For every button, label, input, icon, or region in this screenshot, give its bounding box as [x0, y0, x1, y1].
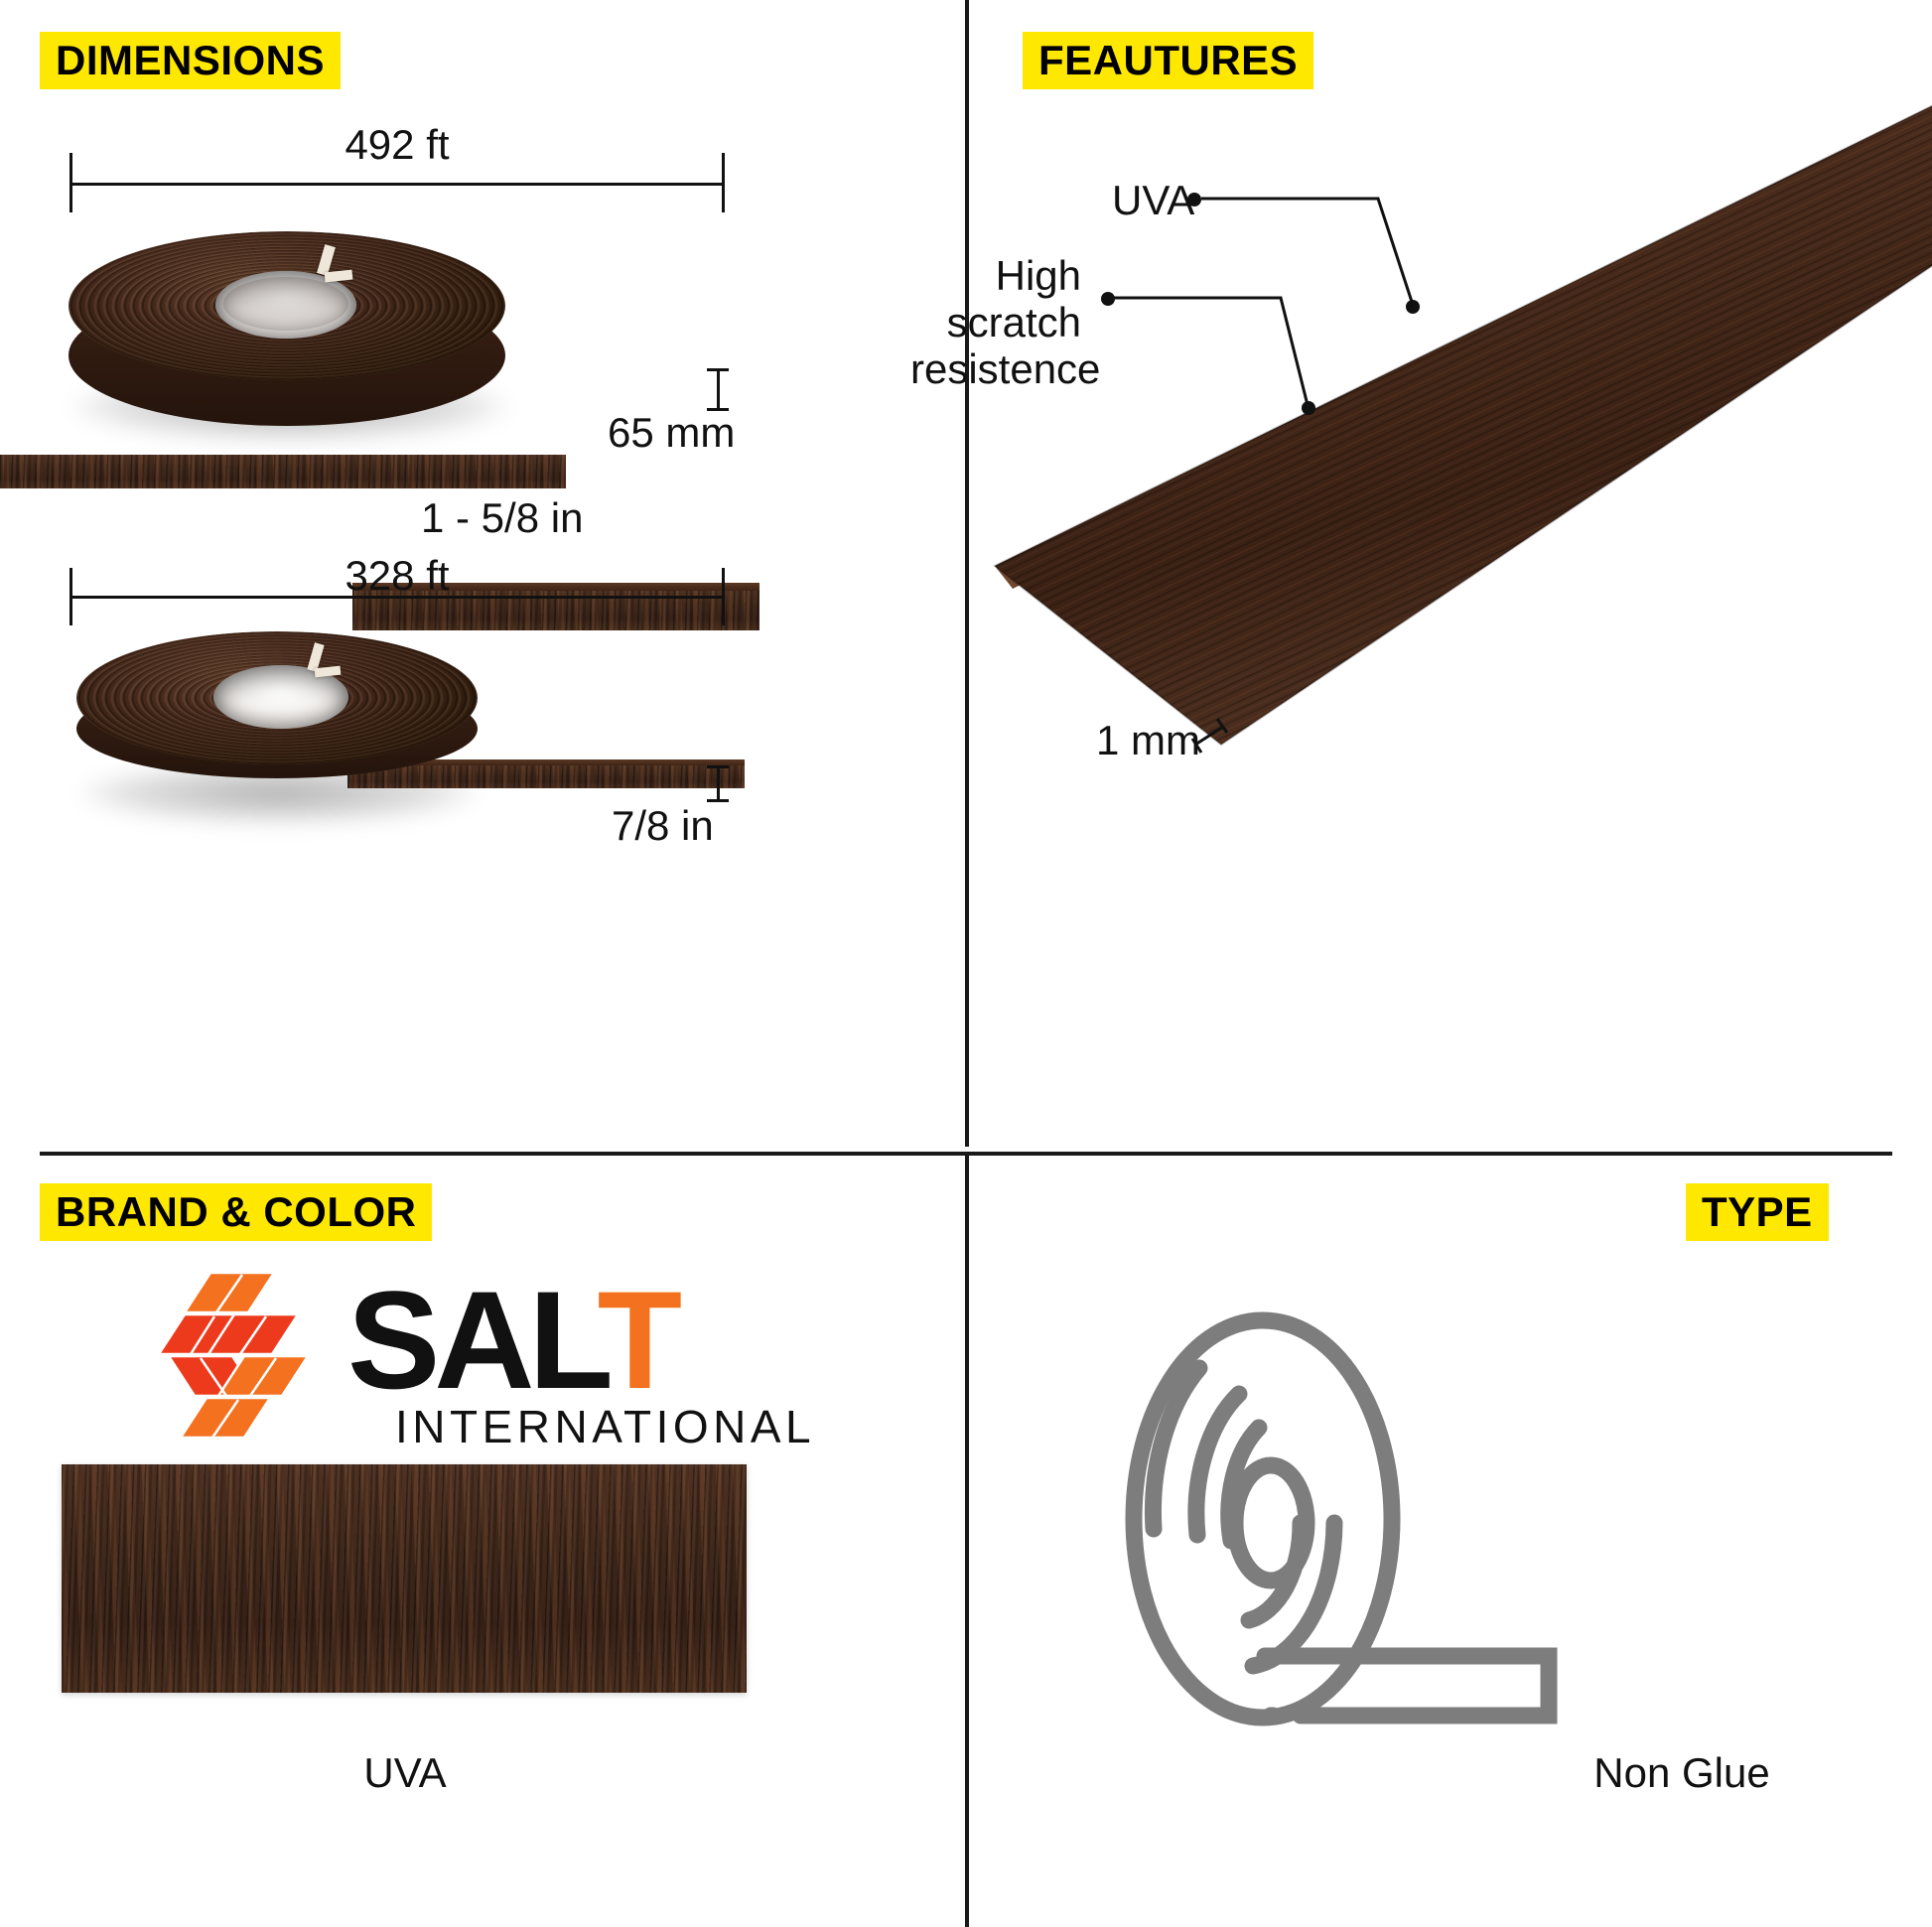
- callout-label-uva: UVA: [1112, 177, 1194, 223]
- dimtick-left-328ft: [69, 568, 72, 625]
- vertical-divider-bottom: [965, 1152, 969, 1927]
- dimtick-top-65mm: [707, 368, 729, 371]
- callout-anchor-scratch: [1302, 401, 1315, 415]
- label-color-name: UVA: [363, 1749, 446, 1796]
- label-length-328ft: 328 ft: [345, 552, 449, 599]
- dimtick-right-328ft: [722, 568, 725, 625]
- dimline-65mm: [717, 369, 720, 411]
- section-header-type: TYPE: [1686, 1183, 1829, 1241]
- salt-s-mark-icon: [149, 1269, 338, 1445]
- infographic-sheet: DIMENSIONS 492 ft 65 mm 1 - 5/8 in 328 f…: [0, 0, 1932, 1927]
- section-header-features: FEAUTURES: [1023, 32, 1313, 89]
- section-header-brand-color: BRAND & COLOR: [40, 1183, 432, 1241]
- callout-anchor-uva: [1406, 300, 1420, 314]
- section-header-dimensions: DIMENSIONS: [40, 32, 341, 89]
- dimtick-left-492ft: [69, 153, 72, 212]
- color-swatch-uva: [62, 1464, 747, 1693]
- dimline-1mm: [1187, 711, 1267, 770]
- roll-non-glue-icon: [1122, 1310, 1678, 1727]
- dimtick-top-7-8in: [707, 765, 729, 768]
- label-width-1-5-8in: 1 - 5/8 in: [421, 494, 583, 541]
- dimline-7-8in: [717, 766, 720, 802]
- label-length-492ft: 492 ft: [345, 121, 449, 168]
- salt-international-logo: SALT INTERNATIONAL: [149, 1263, 764, 1451]
- edge-banding-roll-small: [65, 623, 730, 812]
- label-width-65mm: 65 mm: [608, 409, 735, 456]
- label-type-value: Non Glue: [1593, 1749, 1769, 1796]
- label-width-7-8in: 7/8 in: [612, 802, 714, 849]
- callout-leader-scratch: [1106, 284, 1404, 423]
- dimline-492ft: [69, 183, 725, 186]
- salt-subtitle: INTERNATIONAL: [395, 1404, 815, 1449]
- callout-label-scratch: High scratch resistence: [910, 252, 1081, 392]
- edge-banding-roll-large: [55, 223, 720, 437]
- salt-wordmark: SALT: [347, 1271, 676, 1410]
- strip-sample-large: [0, 455, 566, 488]
- vertical-divider-top: [965, 0, 969, 1147]
- label-thickness-1mm: 1 mm: [1096, 717, 1200, 763]
- dimtick-right-492ft: [722, 153, 725, 212]
- dimline-328ft: [69, 596, 725, 599]
